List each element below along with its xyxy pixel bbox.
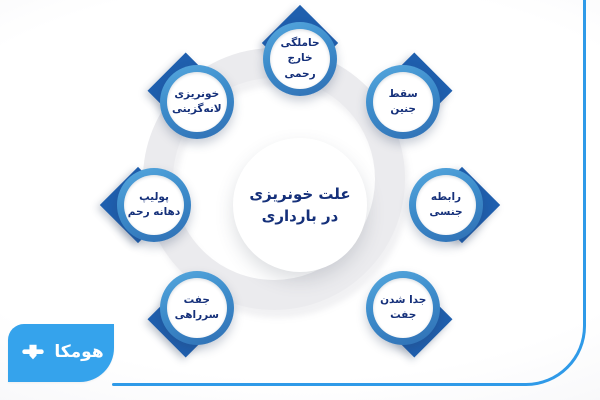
node-label: جدا شدن جفت (380, 293, 426, 323)
node-face: جفت سرراهی (167, 278, 227, 338)
node-face: جدا شدن جفت (373, 278, 433, 338)
node-label: پولیپ دهانه رحم (128, 190, 180, 220)
node-label: خونریزی لانه‌گزینی (172, 87, 222, 117)
node-label: جفت سرراهی (175, 293, 219, 323)
accent-line-right (583, 0, 586, 306)
node-face: حاملگی خارج رحمی (270, 29, 330, 89)
node-label: سقط جنین (389, 87, 418, 117)
node-face: خونریزی لانه‌گزینی (167, 72, 227, 132)
infographic-canvas: حاملگی خارج رحمی سقط جنین رابطه جنسی جدا… (0, 0, 600, 400)
diagram-node-ectopic-pregnancy[interactable]: حاملگی خارج رحمی (263, 22, 337, 96)
accent-line-bottom (112, 383, 516, 386)
node-face: پولیپ دهانه رحم (124, 175, 184, 235)
node-face: سقط جنین (373, 72, 433, 132)
node-label: رابطه جنسی (429, 190, 462, 220)
diagram-center-hub: علت خونریزی در بارداری (233, 138, 367, 272)
diagram-node-sexual-intercourse[interactable]: رابطه جنسی (409, 168, 483, 242)
diagram-node-placental-abruption[interactable]: جدا شدن جفت (366, 271, 440, 345)
node-label: حاملگی خارج رحمی (270, 36, 330, 82)
brand-logo[interactable]: هومکا (8, 324, 114, 382)
diagram-center-title: علت خونریزی در بارداری (239, 183, 360, 228)
diagram-node-placenta-previa[interactable]: جفت سرراهی (160, 271, 234, 345)
diagram-node-miscarriage[interactable]: سقط جنین (366, 65, 440, 139)
diagram-node-cervical-polyp[interactable]: پولیپ دهانه رحم (117, 168, 191, 242)
brand-name: هومکا (54, 344, 103, 363)
diagram-node-implantation-bleeding[interactable]: خونریزی لانه‌گزینی (160, 65, 234, 139)
node-face: رابطه جنسی (416, 175, 476, 235)
medical-cross-icon (18, 338, 48, 368)
